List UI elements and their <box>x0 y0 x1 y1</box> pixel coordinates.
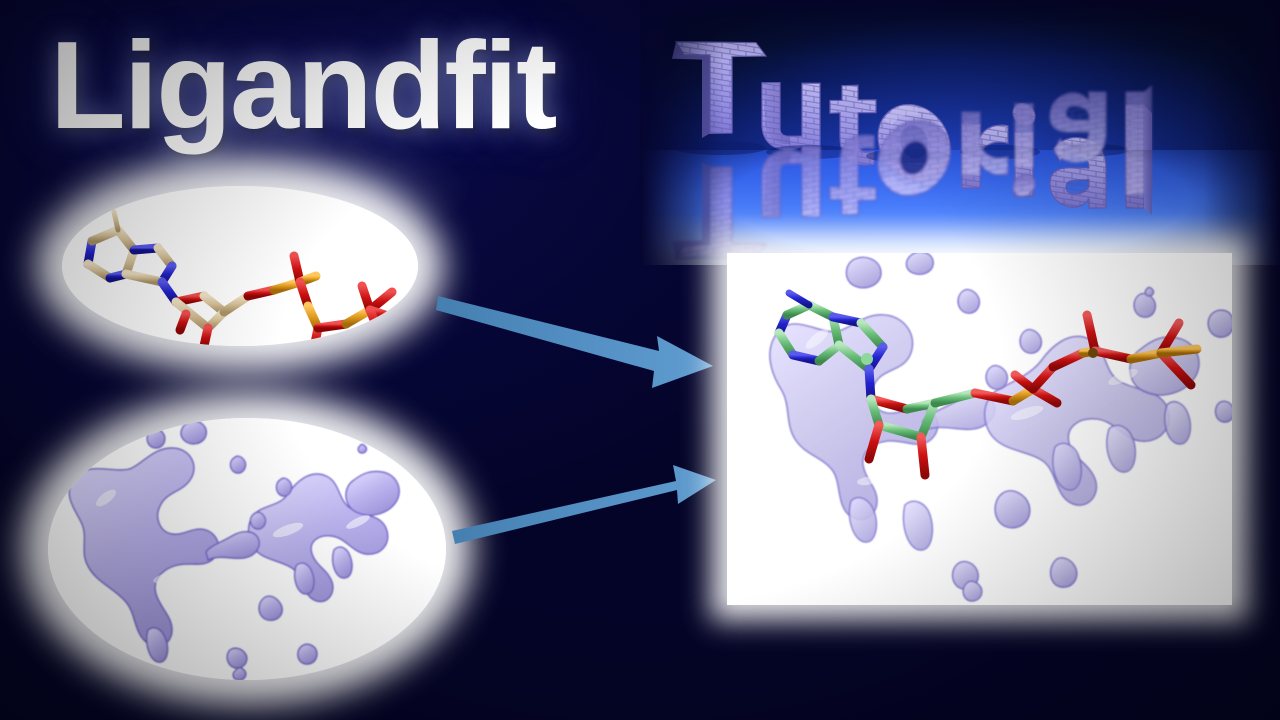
title-slide: Ligandfit <box>0 0 1280 720</box>
fitted-ligand-density-view <box>727 253 1232 605</box>
arrow-density-to-result <box>452 465 716 544</box>
arrow-ligand-to-result <box>436 296 713 388</box>
result-panel <box>727 253 1232 605</box>
